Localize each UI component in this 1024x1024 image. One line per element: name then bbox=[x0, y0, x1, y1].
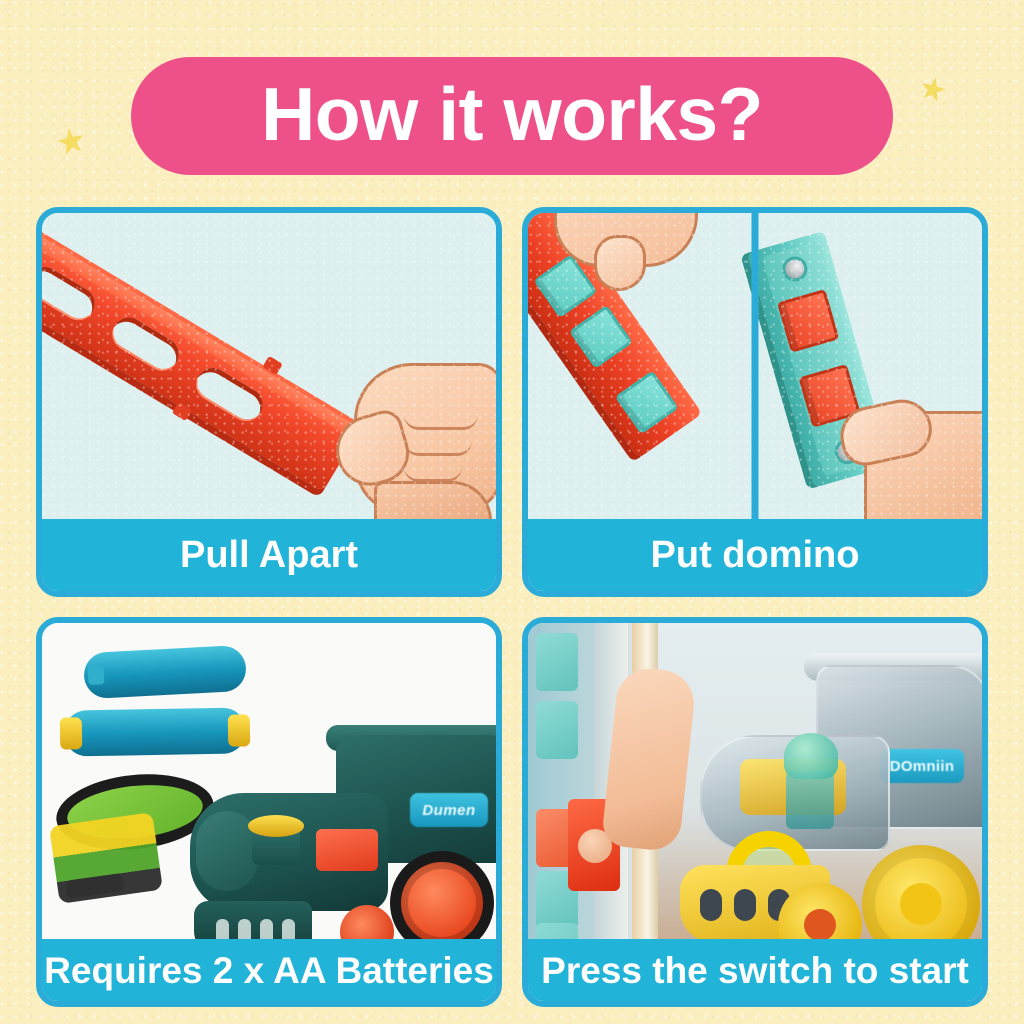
train-vent bbox=[216, 919, 229, 939]
hand-icon bbox=[842, 395, 982, 519]
step-panel-1: Pull Apart bbox=[36, 207, 502, 597]
step-panel-4: DOmniin Press the switch to start bbox=[522, 617, 988, 1007]
hand-thumb bbox=[594, 235, 646, 291]
step-4-illustration: DOmniin bbox=[528, 623, 982, 939]
hand-icon bbox=[554, 213, 704, 301]
battery-cap bbox=[60, 717, 83, 749]
domino-tile bbox=[536, 701, 578, 759]
train-boiler bbox=[190, 793, 388, 911]
train-wheel-large bbox=[862, 845, 980, 939]
split-divider bbox=[752, 213, 759, 519]
train-vent bbox=[238, 919, 251, 939]
step-3-caption: Requires 2 x AA Batteries bbox=[42, 939, 496, 1001]
step-2-illustration bbox=[528, 213, 982, 519]
domino-tile bbox=[536, 633, 578, 691]
page-title: How it works? bbox=[261, 77, 763, 152]
title-banner: How it works? bbox=[131, 57, 893, 175]
train-skirt bbox=[194, 901, 312, 939]
step-panel-2: Put domino bbox=[522, 207, 988, 597]
step-4-caption: Press the switch to start bbox=[528, 939, 982, 1001]
red-rail-icon bbox=[42, 219, 363, 492]
train-vent bbox=[734, 889, 756, 921]
toy-train-icon: DOmniin bbox=[646, 639, 982, 939]
hand-icon bbox=[330, 355, 496, 519]
hand-finger bbox=[404, 467, 462, 482]
hand-finger bbox=[404, 415, 478, 430]
step-1-illustration bbox=[42, 213, 496, 519]
train-vent bbox=[260, 919, 273, 939]
teal-domino-icon bbox=[569, 305, 633, 369]
track-pieces-icon bbox=[49, 812, 163, 904]
toy-train-icon: Dumen bbox=[184, 731, 496, 939]
steps-grid: Pull Apart bbox=[36, 207, 988, 1007]
train-brand-label: Dumen bbox=[410, 793, 488, 827]
teal-domino-icon bbox=[615, 370, 679, 434]
domino-tile bbox=[536, 923, 578, 939]
train-vent bbox=[700, 889, 722, 921]
step-panel-3: Dumen Requires 2 x AA Batteries bbox=[36, 617, 502, 1007]
battery-terminal bbox=[88, 664, 105, 685]
train-dome bbox=[784, 733, 838, 779]
step-2-caption: Put domino bbox=[528, 519, 982, 591]
train-brand-label: DOmniin bbox=[880, 749, 964, 783]
train-smokestack-rim bbox=[248, 815, 304, 837]
train-smokestack bbox=[786, 771, 834, 829]
step-1-caption: Pull Apart bbox=[42, 519, 496, 591]
train-vent bbox=[282, 919, 295, 939]
train-boiler bbox=[700, 735, 890, 851]
hand-finger bbox=[404, 441, 472, 456]
rail-highlight bbox=[42, 226, 356, 437]
train-wheel-large bbox=[390, 851, 494, 939]
aa-battery-icon bbox=[83, 645, 247, 699]
rail-nub-icon bbox=[172, 402, 192, 421]
train-red-block bbox=[316, 829, 378, 871]
step-3-illustration: Dumen bbox=[42, 623, 496, 939]
